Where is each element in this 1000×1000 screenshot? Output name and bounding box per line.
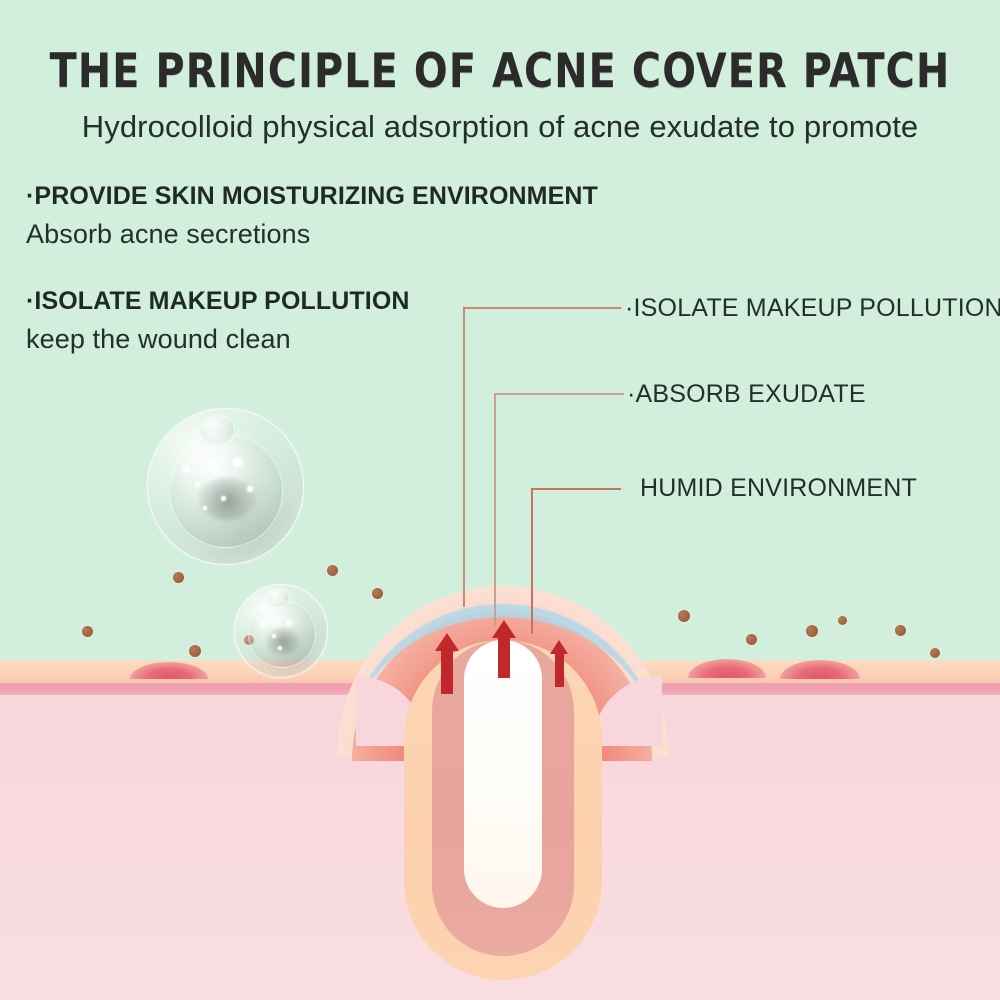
bubble-highlight [272, 634, 276, 638]
callout-label-isolate-makeup: ·ISOLATE MAKEUP POLLUTION [625, 294, 1000, 323]
leader-vertical [463, 307, 465, 607]
bubble-highlight [278, 646, 282, 650]
pollution-particle [189, 645, 201, 657]
benefit-description: Absorb acne secretions [26, 219, 598, 250]
benefit-heading: ·PROVIDE SKIN MOISTURIZING ENVIRONMENT [26, 182, 598, 211]
follicle-sebum-core [464, 640, 542, 908]
leader-horizontal [531, 488, 621, 490]
arrow-stem [555, 653, 564, 687]
benefit-block-1: ·ISOLATE MAKEUP POLLUTION keep the wound… [26, 287, 410, 355]
pollution-particle [930, 648, 940, 658]
arrow-head-icon [550, 640, 568, 654]
bubble-highlight [203, 506, 207, 510]
bubble-highlight [221, 496, 226, 501]
bubble-shadow [199, 478, 255, 520]
pollution-particle [806, 625, 818, 637]
page-subtitle: Hydrocolloid physical adsorption of acne… [0, 109, 1000, 145]
benefit-description: keep the wound clean [26, 324, 410, 355]
bubble-highlight [183, 466, 190, 473]
bubble-highlight [260, 622, 265, 627]
bubble-highlight [233, 458, 242, 467]
arrow-stem [498, 636, 510, 678]
leader-horizontal [463, 307, 621, 309]
pollution-particle [327, 565, 338, 576]
pollution-particle [838, 616, 847, 625]
page-title: THE PRINCIPLE OF ACNE COVER PATCH [30, 44, 970, 99]
moisture-bubble-small [234, 584, 326, 676]
pollution-particle [895, 625, 906, 636]
pollution-particle [746, 634, 757, 645]
pollution-particle [372, 588, 383, 599]
follicle-cross-section [398, 640, 608, 1000]
bubble-highlight [195, 482, 200, 487]
leader-vertical [494, 393, 496, 626]
moisture-bubble-large [147, 408, 302, 563]
bubble-highlight [247, 486, 253, 492]
pollution-particle [173, 572, 184, 583]
infographic-canvas: THE PRINCIPLE OF ACNE COVER PATCH Hydroc… [0, 0, 1000, 1000]
pollution-particle [678, 610, 690, 622]
callout-label-humid-environment: HUMID ENVIRONMENT [640, 474, 917, 503]
bubble-shadow [266, 628, 300, 654]
benefit-block-0: ·PROVIDE SKIN MOISTURIZING ENVIRONMENT A… [26, 182, 598, 250]
bubble-highlight [286, 620, 292, 626]
pollution-particle [82, 626, 93, 637]
callout-label-absorb-exudate: ·ABSORB EXUDATE [627, 380, 866, 409]
leader-horizontal [494, 393, 624, 395]
arrow-stem [441, 649, 453, 694]
bubble-highlight [209, 460, 215, 466]
leader-vertical [531, 488, 533, 634]
benefit-heading: ·ISOLATE MAKEUP POLLUTION [26, 287, 410, 316]
